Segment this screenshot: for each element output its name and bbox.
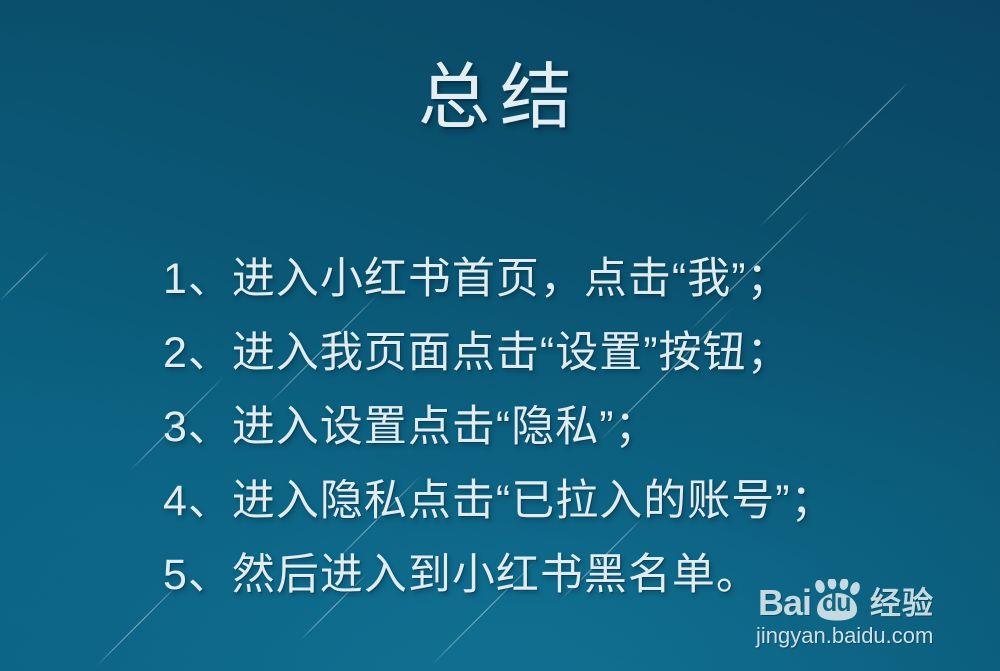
watermark-logo-row: Bai du 经验 [758,579,934,621]
list-item: 3、进入设置点击“隐私”； [163,390,983,464]
paw-print-icon: du [811,579,863,621]
baidu-jingyan-watermark: Bai du 经验 jingyan.baidu.com [744,579,984,657]
slide-title: 总结 [0,62,1000,134]
list-item: 2、进入我页面点击“设置”按钮； [163,316,983,390]
watermark-url: jingyan.baidu.com [756,623,933,649]
watermark-brand-du: du [822,591,851,616]
watermark-brand-bai: Bai [758,585,811,621]
slide-canvas: 总结 1、进入小红书首页，点击“我”； 2、进入我页面点击“设置”按钮； 3、进… [0,0,1000,671]
instruction-list: 1、进入小红书首页，点击“我”； 2、进入我页面点击“设置”按钮； 3、进入设置… [163,242,983,612]
list-item: 1、进入小红书首页，点击“我”； [163,242,983,316]
watermark-brand-suffix: 经验 [870,587,934,621]
list-item: 4、进入隐私点击“已拉入的账号”； [163,464,983,538]
